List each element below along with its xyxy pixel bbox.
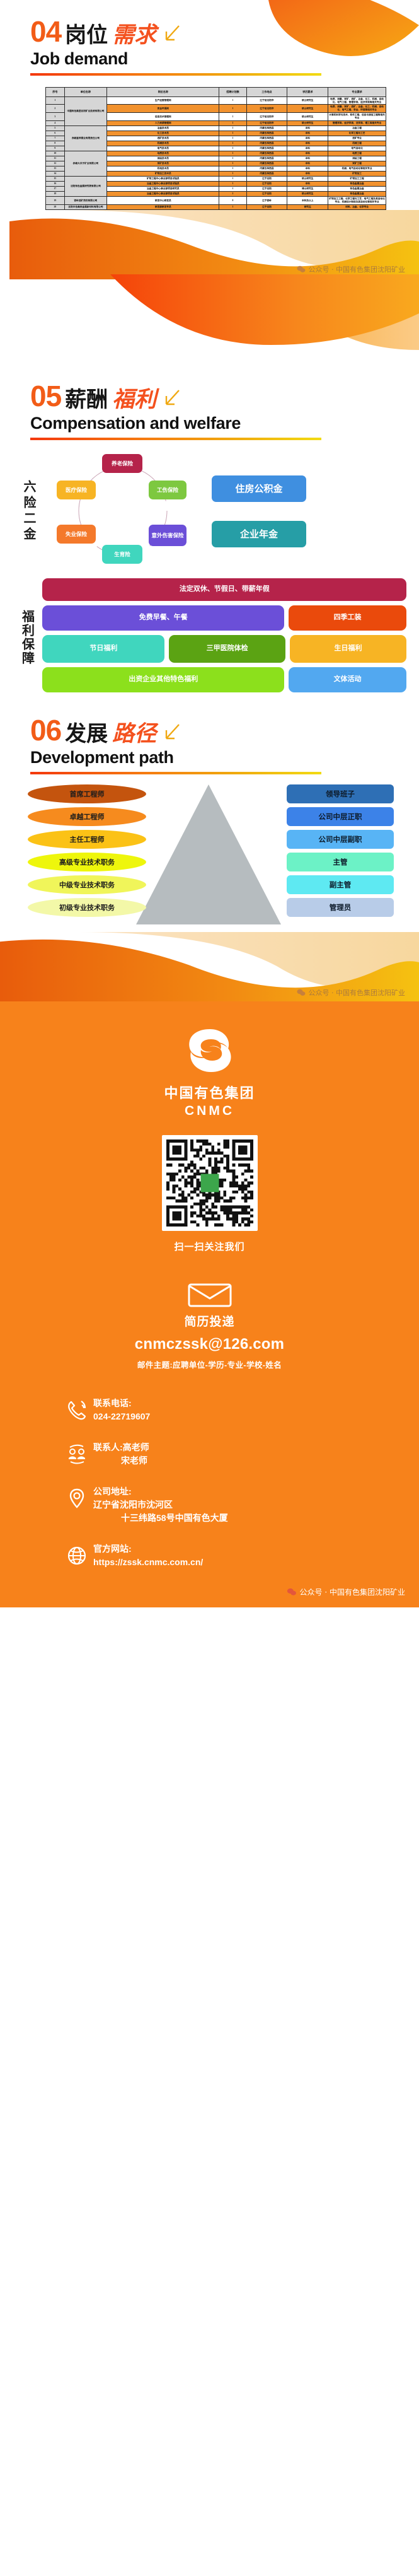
career-path-block: 首席工程师卓越工程师主任工程师高级专业技术职务中级专业技术职务初级专业技术职务 … [0,774,419,932]
cell-edu: 本科 [287,151,328,156]
cell-major: 地质、测量、采矿、选矿、冶金、化工、机械、自动化、电气工程、安全、环保等相关专业 [328,105,386,113]
section-06-title-en: Development path [30,748,419,767]
cell-edu: 研究生 [287,205,328,210]
welfare-item: 三甲医院体检 [169,635,285,663]
cell-no: 13 [46,166,65,172]
cell-major: 测绘工程 [328,156,386,161]
management-track-item: 领导班子 [287,784,394,803]
cell-location: 内蒙古林西县 [246,161,287,166]
th-edu: 学历要求 [287,88,328,97]
section-05-title-cn-a: 薪酬 [65,389,108,411]
cell-no: 5 [46,126,65,131]
watermark-text: 公众号 · 中国有色集团沈阳矿业 [309,988,406,998]
cell-major: 矿物加工工程、化学工程与工艺、电气工程及其自动化专业、机械设计制造及其自动化等相… [328,197,386,205]
cell-location: 辽宁沈阳 [246,205,287,210]
pyramid-shape [136,784,281,924]
cell-no: 6 [46,131,65,136]
welfare-item: 四季工装 [289,605,406,631]
contact-text: 联系电话:024-22719607 [93,1397,150,1423]
cell-count: 8 [219,197,246,205]
management-track-item: 公司中层正职 [287,807,394,826]
wechat-icon [287,1588,297,1596]
cell-post: 研发中心研发员 [107,197,219,205]
welfare-item: 法定双休、节假日、带薪年假 [42,578,406,601]
globe-icon [60,1542,93,1568]
cell-edu: 博士研究生 [287,187,328,192]
contact-text: 官方网站:https://zssk.cnmc.com.cn/ [93,1542,203,1569]
cell-edu: 本科 [287,136,328,141]
section-04-number: 04 [30,17,61,46]
cell-count: 1 [219,187,246,192]
down-left-arrow-icon [161,722,183,743]
cell-major: 计算机科学与技术、软件工程、信息与通信工程等相关专业 [328,113,386,121]
insurance-pill: 失业保险 [57,525,96,544]
cell-edu: 本科 [287,156,328,161]
cell-post: 冶金工程中心事业部项目研究员 [107,187,219,192]
insurance-pill: 意外伤害保险 [149,525,187,546]
cell-major: 有色金属冶金 [328,187,386,192]
welfare-row: 法定双休、节假日、带薪年假 [42,578,406,601]
technical-track-item: 首席工程师 [28,784,146,803]
cell-major: 矿物加工工程 [328,177,386,182]
cell-major: 有色金属冶金 [328,182,386,187]
cell-no: 12 [46,161,65,166]
cell-post: 信息技术管理岗 [107,113,219,121]
management-track-item: 管理员 [287,898,394,917]
cell-location: 辽宁铁岭 [246,197,287,205]
cell-post: 人力资源管理岗 [107,121,219,126]
technical-track-item: 高级专业技术职务 [28,853,146,871]
contact-text: 公司地址:辽宁省沈阳市沈河区十三纬路58号中国有色大厦 [93,1485,228,1525]
contact-list: 联系电话:024-22719607联系人:高老师宋老师公司地址:辽宁省沈阳市沈河… [60,1397,419,1569]
fund-pill: 住房公积金 [212,475,306,502]
contact-label: 联系人:高老师 [93,1441,149,1454]
contact-label: 官方网站: [93,1542,203,1556]
cell-no: 18 [46,192,65,197]
cell-no: 3 [46,113,65,121]
envelope-icon [187,1279,233,1307]
management-track-item: 公司中层副职 [287,830,394,849]
th-location: 工作地点 [246,88,287,97]
welfare-item: 出资企业其他特色福利 [42,667,284,692]
cell-edu: 硕士研究生 [287,105,328,113]
cell-count: 1 [219,136,246,141]
cell-count: 1 [219,113,246,121]
cell-count: 1 [219,146,246,151]
cell-no: 16 [46,182,65,187]
cell-post: 冶金技术员 [107,126,219,131]
contact-value[interactable]: 辽宁省沈阳市沈河区 [93,1498,228,1512]
cell-count: 1 [219,126,246,131]
cnmc-logo-icon [180,1025,240,1076]
resume-submit-heading: 简历投递 [0,1279,419,1329]
cell-count: 1 [219,182,246,187]
insurance-ring: 养老保险工伤保险意外伤害保险生育险失业保险医疗保险 [44,453,202,569]
cell-post: 测绘技术员 [107,156,219,161]
cell-location: 内蒙古林西县 [246,156,287,161]
resume-email[interactable]: cnmczssk@126.com [0,1336,419,1353]
welfare-grid: 法定双休、节假日、带薪年假免费早餐、午餐四季工装节日福利三甲医院体检生日福利出资… [42,578,406,697]
contact-row: 官方网站:https://zssk.cnmc.com.cn/ [60,1542,419,1569]
brand-name-cn: 中国有色集团 [164,1082,255,1102]
cell-post: 安全环保岗 [107,105,219,113]
watermark-mid: 公众号 · 中国有色集团沈阳矿业 [0,988,419,1001]
watermark-text: 公众号 · 中国有色集团沈阳矿业 [309,264,406,274]
cell-location: 辽宁省沈阳市 [246,113,287,121]
job-demand-table: 序号 单位名称 岗位名称 招聘计划数 工作地点 学历要求 专业要求 1中国有色集… [45,87,386,210]
insurance-pill: 医疗保险 [57,481,96,499]
cell-post: 矿物工程中心事业部项目试验员 [107,177,219,182]
table-row: 20沈阳中色瀚贵金属新材料有限公司研发部研发专员1辽宁沈阳研究生材料、冶金、化学… [46,205,386,210]
cell-location: 辽宁沈阳 [246,177,287,182]
cell-location: 辽宁沈阳 [246,192,287,197]
qr-code[interactable] [162,1135,258,1231]
cell-post: 地质技术员 [107,151,219,156]
watermark-bottom: 公众号 · 中国有色集团沈阳矿业 [0,1587,419,1597]
contact-label: 联系电话: [93,1397,150,1410]
footer-panel: 中国有色集团 CNMC 扫一扫关注我们 简历投递 cnmczssk@126.co… [0,1001,419,1607]
cell-post: 冶金工程中心事业部项目试验员 [107,182,219,187]
welfare-row: 节日福利三甲医院体检生日福利 [42,635,406,663]
cell-no: 19 [46,197,65,205]
cell-count: 1 [219,105,246,113]
cell-edu: 硕士研究生 [287,177,328,182]
cell-edu: 硕士研究生 [287,96,328,105]
th-post: 岗位名称 [107,88,219,97]
cell-no: 11 [46,156,65,161]
cell-no: 1 [46,96,65,105]
cell-edu: 本科 [287,141,328,146]
wechat-icon [297,989,306,996]
cell-no: 10 [46,151,65,156]
contact-text: 联系人:高老师宋老师 [93,1441,149,1467]
cell-count: 1 [219,205,246,210]
wave-decoration-b [0,274,419,369]
cell-no: 8 [46,141,65,146]
cell-unit: 铁岭选矿药剂有限公司 [64,197,107,205]
section-05-header: 05 薪酬 福利 Compensation and welfare [0,369,419,440]
technical-track-column: 首席工程师卓越工程师主任工程师高级专业技术职务中级专业技术职务初级专业技术职务 [28,784,146,921]
cell-no: 2 [46,105,65,113]
cell-no: 7 [46,136,65,141]
welfare-item: 生日福利 [290,635,406,663]
cell-no: 20 [46,205,65,210]
qr-code-image [166,1139,253,1227]
contact-value-secondary: 宋老师 [93,1454,149,1467]
cell-unit: 赤峰富邦铜业有限责任公司 [64,126,107,151]
th-count: 招聘计划数 [219,88,246,97]
insurance-side-label: 六险二金 [15,480,38,543]
cell-count: 1 [219,166,246,172]
insurance-block: 六险二金 养老保险工伤保险意外伤害保险生育险失业保险医疗保险 住房公积金企业年金 [0,440,419,569]
cell-unit: 赤峰大井子矿业有限公司 [64,151,107,177]
cell-no: 9 [46,146,65,151]
recruitment-poster: 04 岗位 需求 Job demand 序号 单位名称 岗位名称 招聘计划数 工… [0,0,419,1607]
cell-location: 内蒙古林西县 [246,141,287,146]
cell-unit: 沈阳有色金属研究院有限公司 [64,177,107,197]
section-04-title-cn-a: 岗位 [65,25,108,46]
section-04-title-cn-b: 需求 [112,24,156,46]
cell-post: 矿物加工技术员 [107,172,219,177]
cell-location: 辽宁省沈阳市 [246,121,287,126]
people-icon [60,1441,93,1466]
phone-icon [60,1397,93,1422]
cell-post: 冶金工程中心事业部项目试验员 [107,192,219,197]
welfare-item: 文体活动 [289,667,406,692]
section-04-title-en: Job demand [30,49,419,69]
cell-edu: 硕士研究生 [287,121,328,126]
cell-major: 机械、电气自动化等相关专业 [328,166,386,172]
cell-major: 地质工程 [328,151,386,156]
cell-post: 化工技术员 [107,131,219,136]
table-row: 19铁岭选矿药剂有限公司研发中心研发员8辽宁铁岭本科及以上矿物加工工程、化学工程… [46,197,386,205]
scan-tip-text: 扫一扫关注我们 [0,1240,419,1253]
management-track-item: 主管 [287,853,394,871]
resume-submit-label: 简历投递 [184,1315,234,1329]
cell-location: 辽宁省沈阳市 [246,105,287,113]
cell-location: 内蒙古林西县 [246,131,287,136]
cell-location: 内蒙古林西县 [246,172,287,177]
cell-major: 选矿专业 [328,136,386,141]
cell-count: 1 [219,172,246,177]
cell-edu: 硕士研究生 [287,192,328,197]
cell-count: 1 [219,161,246,166]
cell-unit: 沈阳中色瀚贵金属新材料有限公司 [64,205,107,210]
section-06-number: 06 [30,716,61,745]
email-subject-format: 邮件主题:应聘单位-学历-专业-学校-姓名 [0,1358,419,1370]
table-row: 10赤峰大井子矿业有限公司地质技术员1内蒙古林西县本科地质工程 [46,151,386,156]
cell-count: 1 [219,131,246,136]
management-track-column: 领导班子公司中层正职公司中层副职主管副主管管理员 [287,784,394,921]
contact-value-secondary: 十三纬路58号中国有色大厦 [93,1512,228,1525]
welfare-row: 免费早餐、午餐四季工装 [42,605,406,631]
cell-location: 内蒙古林西县 [246,166,287,172]
contact-value[interactable]: 024-22719607 [93,1410,150,1423]
management-track-item: 副主管 [287,875,394,894]
cell-no: 4 [46,121,65,126]
down-left-arrow-icon [161,388,183,409]
contact-label: 公司地址: [93,1485,228,1498]
insurance-pill: 工伤保险 [149,481,187,499]
cell-count: 1 [219,96,246,105]
cell-location: 辽宁沈阳 [246,182,287,187]
cell-location: 内蒙古林西县 [246,126,287,131]
technical-track-item: 主任工程师 [28,830,146,849]
welfare-block: 福利保障 法定双休、节假日、带薪年假免费早餐、午餐四季工装节日福利三甲医院体检生… [0,569,419,697]
welfare-item: 节日福利 [42,635,164,663]
cell-no: 15 [46,177,65,182]
cell-major: 材料、冶金、化学专业 [328,205,386,210]
cell-unit: 中国有色集团沈阳矿业投资有限公司 [64,96,107,126]
cell-major: 采矿工程 [328,161,386,166]
cell-location: 内蒙古林西县 [246,146,287,151]
cell-location: 辽宁沈阳 [246,187,287,192]
brand-logo-block: 中国有色集团 CNMC [0,1025,419,1119]
cell-post: 生产经营管理岗 [107,96,219,105]
cell-edu: 本科 [287,182,328,187]
section-05-title-en: Compensation and welfare [30,414,419,433]
section-06-header: 06 发展 路径 Development path [0,697,419,774]
fund-pill: 企业年金 [212,521,306,547]
cell-edu: 本科 [287,131,328,136]
welfare-row: 出资企业其他特色福利文体活动 [42,667,406,692]
cell-count: 1 [219,121,246,126]
location-pin-icon [60,1485,93,1510]
watermark-top: 公众号 · 中国有色集团沈阳矿业 [0,264,419,274]
fund-pill-group: 住房公积金企业年金 [212,475,306,547]
cell-major: 化学工程与工艺 [328,131,386,136]
section-05-number: 05 [30,382,61,411]
cell-edu: 本科 [287,126,328,131]
wechat-icon [297,265,306,273]
cell-count: 1 [219,156,246,161]
cell-count: 2 [219,192,246,197]
cell-location: 内蒙古林西县 [246,151,287,156]
cell-major: 矿物加工 [328,172,386,177]
th-unit: 单位名称 [64,88,107,97]
cell-location: 内蒙古林西县 [246,136,287,141]
section-06-title-cn-a: 发展 [65,723,108,745]
job-table-wrap: 序号 单位名称 岗位名称 招聘计划数 工作地点 学历要求 专业要求 1中国有色集… [0,76,419,210]
th-major: 专业要求 [328,88,386,97]
th-no: 序号 [46,88,65,97]
cell-post: 选矿技术员 [107,136,219,141]
cell-count: 1 [219,177,246,182]
insurance-pill: 生育险 [102,545,142,564]
section-06-title-cn-b: 路径 [112,723,156,745]
cell-location: 辽宁省沈阳市 [246,96,287,105]
cell-edu: 本科 [287,161,328,166]
cell-post: 机械技术员 [107,141,219,146]
cell-count: 1 [219,151,246,156]
cell-post: 研发部研发专员 [107,205,219,210]
technical-track-item: 初级专业技术职务 [28,898,146,917]
contact-row: 公司地址:辽宁省沈阳市沈河区十三纬路58号中国有色大厦 [60,1485,419,1525]
cell-edu: 本科 [287,146,328,151]
cell-major: 地质、测量、采矿、选矿、冶金、化工、机械、自动化、电气工程、管理学类、经济学类等… [328,96,386,105]
cell-post: 机电技术员 [107,166,219,172]
cell-major: 机械工程 [328,141,386,146]
cell-no: 17 [46,187,65,192]
section-05-rule [30,438,321,440]
section-04-rule [30,73,321,76]
cell-no: 14 [46,172,65,177]
cell-major: 电气自动化 [328,146,386,151]
cell-post: 采矿技术员 [107,161,219,166]
down-left-arrow-icon [161,23,183,45]
table-row: 1中国有色集团沈阳矿业投资有限公司生产经营管理岗1辽宁省沈阳市硕士研究生地质、测… [46,96,386,105]
section-05-title-cn-b: 福利 [112,388,156,411]
cell-major: 管理学类、经济学类、法学类、理工类相关专业 [328,121,386,126]
welfare-side-label: 福利保障 [15,578,36,697]
contact-row: 联系人:高老师宋老师 [60,1441,419,1467]
contact-row: 联系电话:024-22719607 [60,1397,419,1423]
table-header-row: 序号 单位名称 岗位名称 招聘计划数 工作地点 学历要求 专业要求 [46,88,386,97]
watermark-text: 公众号 · 中国有色集团沈阳矿业 [300,1587,405,1597]
technical-track-item: 卓越工程师 [28,807,146,826]
table-row: 15沈阳有色金属研究院有限公司矿物工程中心事业部项目试验员1辽宁沈阳硕士研究生矿… [46,177,386,182]
technical-track-item: 中级专业技术职务 [28,875,146,894]
cell-major: 冶金工程 [328,126,386,131]
cell-count: 1 [219,141,246,146]
contact-value[interactable]: https://zssk.cnmc.com.cn/ [93,1556,203,1569]
cell-edu: 本科 [287,166,328,172]
cell-major: 有色金属冶金 [328,192,386,197]
cell-edu: 硕士研究生 [287,113,328,121]
cell-post: 电气技术员 [107,146,219,151]
welfare-item: 免费早餐、午餐 [42,605,284,631]
table-row: 5赤峰富邦铜业有限责任公司冶金技术员1内蒙古林西县本科冶金工程 [46,126,386,131]
cell-edu: 本科及以上 [287,197,328,205]
brand-abbr: CNMC [185,1104,234,1119]
insurance-pill: 养老保险 [102,454,142,473]
cell-edu: 本科 [287,172,328,177]
section-04-header: 04 岗位 需求 Job demand [0,1,419,76]
